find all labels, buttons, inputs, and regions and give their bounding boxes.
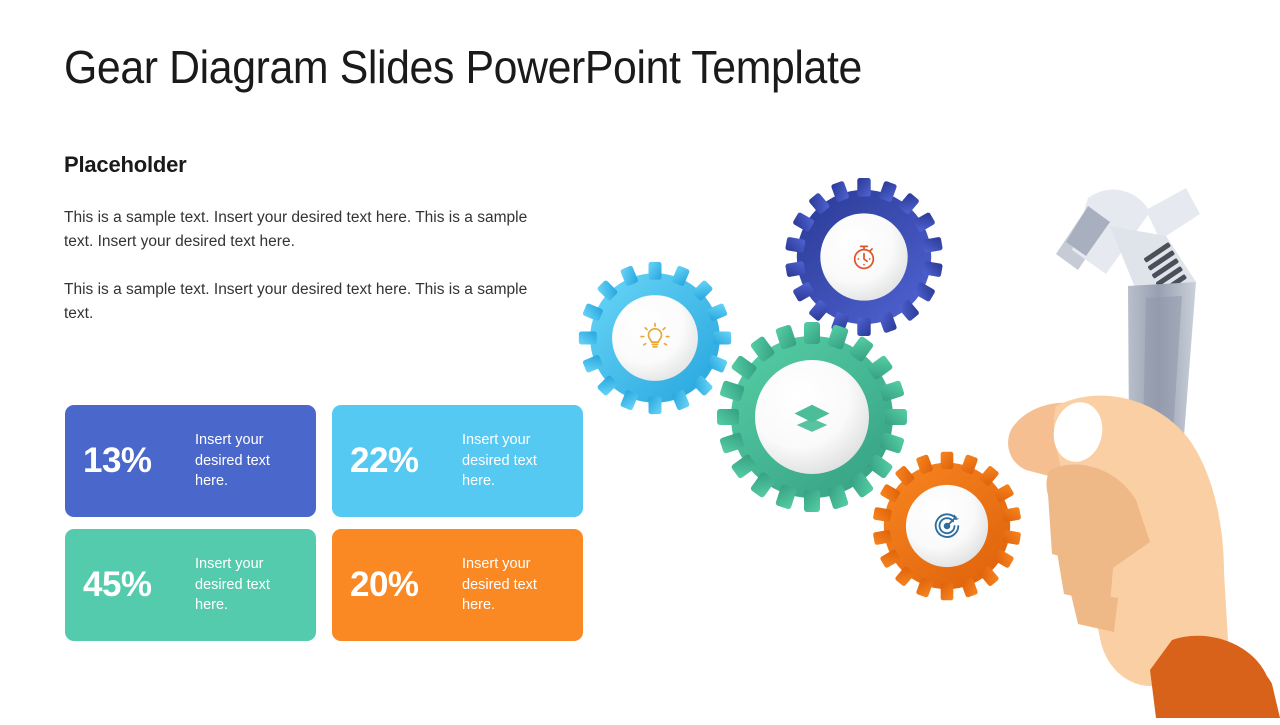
stat-value: 13% <box>83 441 195 481</box>
stat-value: 22% <box>350 441 462 481</box>
hand-folded-fingers <box>1048 494 1118 632</box>
section-heading: Placeholder <box>64 152 564 178</box>
stat-card-13[interactable]: 13% Insert your desired text here. <box>65 405 316 517</box>
stat-card-20[interactable]: 20% Insert your desired text here. <box>332 529 583 641</box>
body-paragraph-1: This is a sample text. Insert your desir… <box>64 206 551 254</box>
stat-label: Insert your desired text here. <box>462 554 566 616</box>
stat-value: 20% <box>350 565 462 605</box>
sleeve-shadow <box>1192 654 1280 718</box>
layers-icon <box>791 396 833 438</box>
wrench-hand-svg <box>960 170 1280 720</box>
stat-card-45[interactable]: 45% Insert your desired text here. <box>65 529 316 641</box>
target-icon <box>930 509 964 543</box>
slide-canvas: Gear Diagram Slides PowerPoint Template … <box>0 0 1280 720</box>
stat-label: Insert your desired text here. <box>462 430 566 492</box>
left-content-column: Placeholder This is a sample text. Inser… <box>64 152 564 350</box>
body-paragraph-2: This is a sample text. Insert your desir… <box>64 278 551 326</box>
stat-label: Insert your desired text here. <box>195 430 299 492</box>
stat-card-22[interactable]: 22% Insert your desired text here. <box>332 405 583 517</box>
wrench-in-hand-illustration <box>960 170 1280 720</box>
page-title: Gear Diagram Slides PowerPoint Template <box>64 40 862 94</box>
stat-value: 45% <box>83 565 195 605</box>
stat-label: Insert your desired text here. <box>195 554 299 616</box>
stopwatch-icon <box>848 241 880 273</box>
lightbulb-icon <box>638 321 672 355</box>
gear-stopwatch[interactable] <box>780 173 948 341</box>
stat-card-grid: 13% Insert your desired text here. 22% I… <box>65 405 584 641</box>
